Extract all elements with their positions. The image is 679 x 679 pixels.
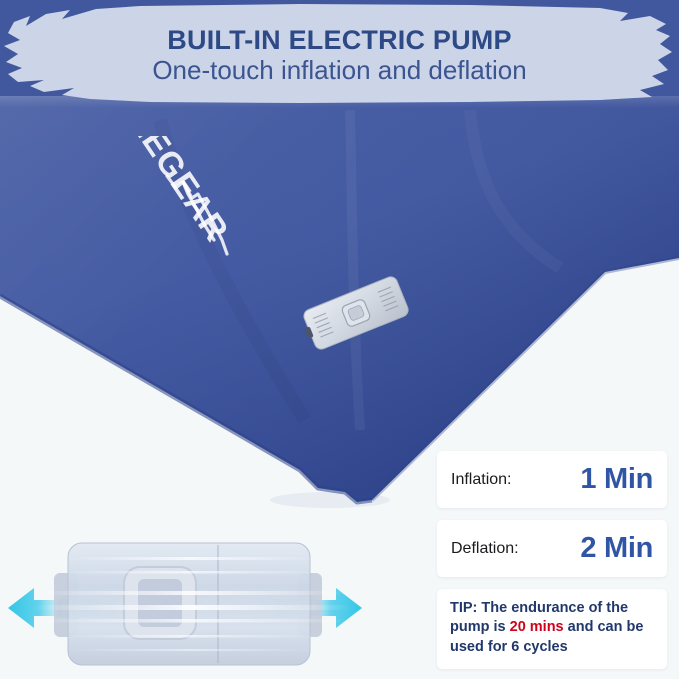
header-banner: BUILT-IN ELECTRIC PUMP One-touch inflati…: [0, 0, 679, 110]
spec-row-deflation: Deflation: 2 Min: [437, 520, 667, 577]
product-infographic: ELEGEAR: [0, 0, 679, 679]
banner-subtitle: One-touch inflation and deflation: [152, 56, 526, 85]
banner-title: BUILT-IN ELECTRIC PUMP: [167, 26, 511, 54]
inflation-value: 1 Min: [580, 463, 653, 496]
tip-highlight: 20 mins: [510, 619, 564, 635]
spec-row-inflation: Inflation: 1 Min: [437, 451, 667, 508]
deflation-label: Deflation:: [451, 540, 519, 558]
inflation-label: Inflation:: [451, 471, 511, 489]
pump-device-on-mattress: [292, 262, 420, 364]
tip-text: TIP: The endurance of the pump is 20 min…: [450, 599, 655, 657]
pump-airflow-illustration: [6, 505, 372, 679]
deflation-value: 2 Min: [580, 532, 653, 565]
specs-panel: Inflation: 1 Min Deflation: 2 Min TIP: T…: [437, 451, 667, 669]
tip-card: TIP: The endurance of the pump is 20 min…: [437, 589, 667, 669]
